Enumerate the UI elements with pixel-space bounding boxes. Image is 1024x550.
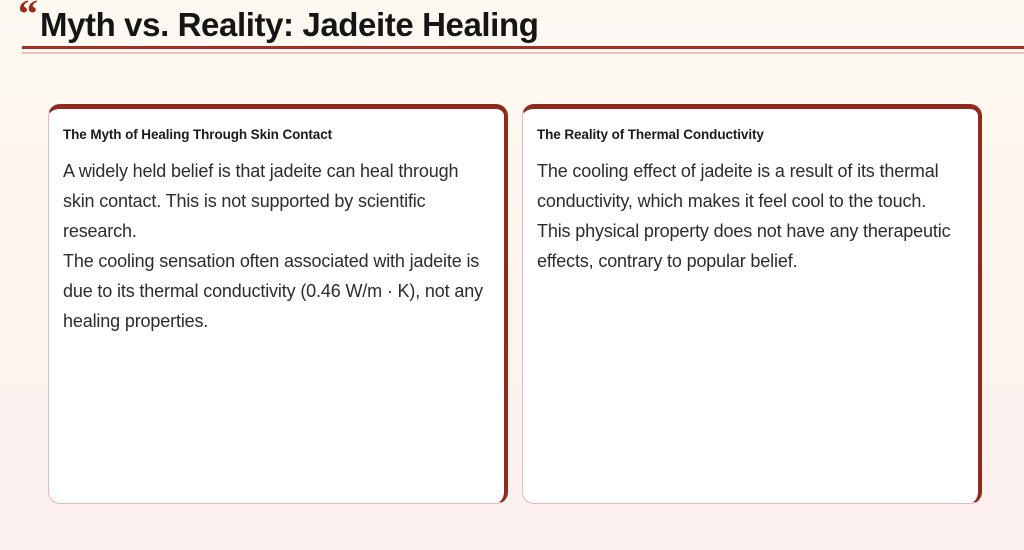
- card-myth: The Myth of Healing Through Skin Contact…: [48, 104, 508, 504]
- card-paragraph: The cooling effect of jadeite is a resul…: [537, 156, 962, 216]
- slide-header: “ Myth vs. Reality: Jadeite Healing: [0, 0, 1024, 58]
- cards-row: The Myth of Healing Through Skin Contact…: [48, 104, 982, 504]
- double-quote-icon: “: [18, 0, 36, 34]
- card-paragraph: A widely held belief is that jadeite can…: [63, 156, 488, 246]
- card-paragraph: This physical property does not have any…: [537, 216, 962, 276]
- card-paragraph: The cooling sensation often associated w…: [63, 246, 488, 336]
- card-title: The Reality of Thermal Conductivity: [537, 127, 962, 142]
- card-title: The Myth of Healing Through Skin Contact: [63, 127, 488, 142]
- title-rule-thin: [22, 52, 1024, 54]
- card-body: The cooling effect of jadeite is a resul…: [537, 156, 962, 276]
- card-reality: The Reality of Thermal Conductivity The …: [522, 104, 982, 504]
- page-title: Myth vs. Reality: Jadeite Healing: [40, 6, 538, 44]
- card-body: A widely held belief is that jadeite can…: [63, 156, 488, 336]
- title-rule-thick: [22, 46, 1024, 49]
